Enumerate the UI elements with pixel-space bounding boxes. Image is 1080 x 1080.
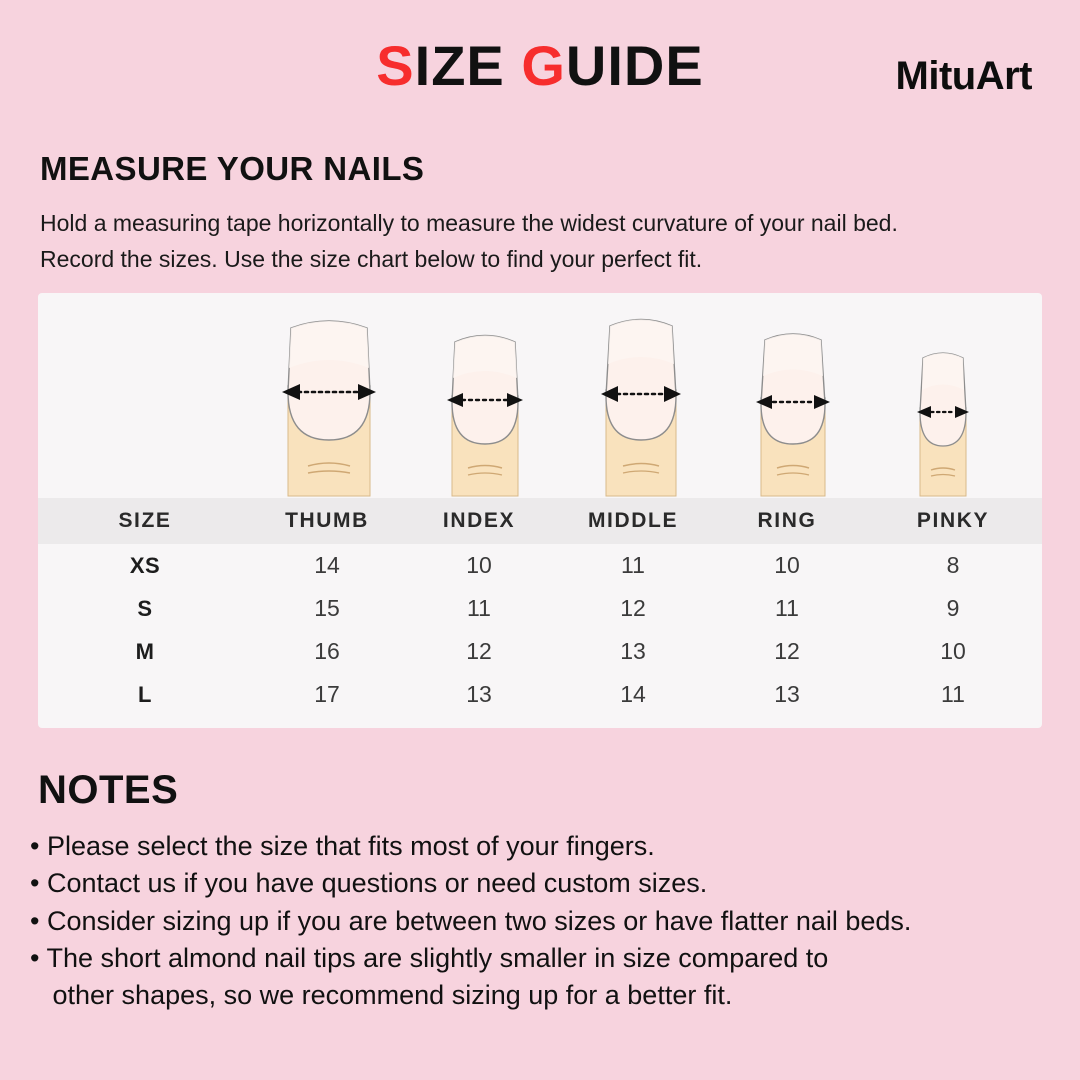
column-header-pinky: PINKY [864,509,1042,533]
nail-figure-thumb [250,308,408,498]
nail-figure-ring [730,320,856,498]
note-item: • The short almond nail tips are slightl… [30,940,1070,977]
cell-index: 10 [402,552,556,579]
cell-thumb: 17 [252,681,402,708]
column-header-middle: MIDDLE [556,509,710,533]
cell-middle: 11 [556,552,710,579]
instruction-line-2: Record the sizes. Use the size chart bel… [40,241,1040,277]
cell-pinky: 9 [864,595,1042,622]
size-chart-panel: SIZE THUMB INDEX MIDDLE RING PINKY XS 14… [38,293,1042,728]
cell-middle: 14 [556,681,710,708]
note-item: • Please select the size that fits most … [30,828,1070,865]
cell-pinky: 10 [864,638,1042,665]
table-row: L 17 13 14 13 11 [38,673,1042,716]
notes-list: • Please select the size that fits most … [30,828,1070,1014]
title-part-ize: IZE [415,34,522,97]
cell-ring: 13 [710,681,864,708]
nail-diagram-strip [38,293,1042,498]
column-header-thumb: THUMB [252,509,402,533]
title-accent-g: G [521,34,566,97]
instruction-line-1: Hold a measuring tape horizontally to me… [40,205,1040,241]
table-row: M 16 12 13 12 10 [38,630,1042,673]
nail-figure-pinky [893,338,993,498]
column-header-ring: RING [710,509,864,533]
page-header: SIZE GUIDE MituArt [0,0,1080,130]
cell-ring: 10 [710,552,864,579]
cell-middle: 12 [556,595,710,622]
note-item: other shapes, so we recommend sizing up … [30,977,1070,1014]
nail-figure-index [420,320,550,498]
measure-instructions: Hold a measuring tape horizontally to me… [40,205,1040,278]
nail-figure-middle [572,308,710,498]
table-row: S 15 11 12 11 9 [38,587,1042,630]
cell-index: 12 [402,638,556,665]
cell-size: XS [38,553,252,579]
size-table: SIZE THUMB INDEX MIDDLE RING PINKY XS 14… [38,498,1042,716]
cell-size: S [38,596,252,622]
column-header-index: INDEX [402,509,556,533]
table-header-row: SIZE THUMB INDEX MIDDLE RING PINKY [38,498,1042,544]
cell-thumb: 15 [252,595,402,622]
cell-middle: 13 [556,638,710,665]
note-item: • Contact us if you have questions or ne… [30,865,1070,902]
cell-pinky: 11 [864,681,1042,708]
cell-thumb: 14 [252,552,402,579]
cell-index: 11 [402,595,556,622]
notes-heading: NOTES [38,768,178,813]
cell-size: L [38,682,252,708]
table-row: XS 14 10 11 10 8 [38,544,1042,587]
cell-pinky: 8 [864,552,1042,579]
title-accent-s: S [376,34,414,97]
cell-ring: 11 [710,595,864,622]
brand-logo: MituArt [896,54,1032,99]
title-part-uide: UIDE [566,34,704,97]
cell-index: 13 [402,681,556,708]
measure-section-heading: MEASURE YOUR NAILS [40,150,424,188]
cell-size: M [38,639,252,665]
column-header-size: SIZE [38,509,252,533]
cell-thumb: 16 [252,638,402,665]
note-item: • Consider sizing up if you are between … [30,903,1070,940]
cell-ring: 12 [710,638,864,665]
